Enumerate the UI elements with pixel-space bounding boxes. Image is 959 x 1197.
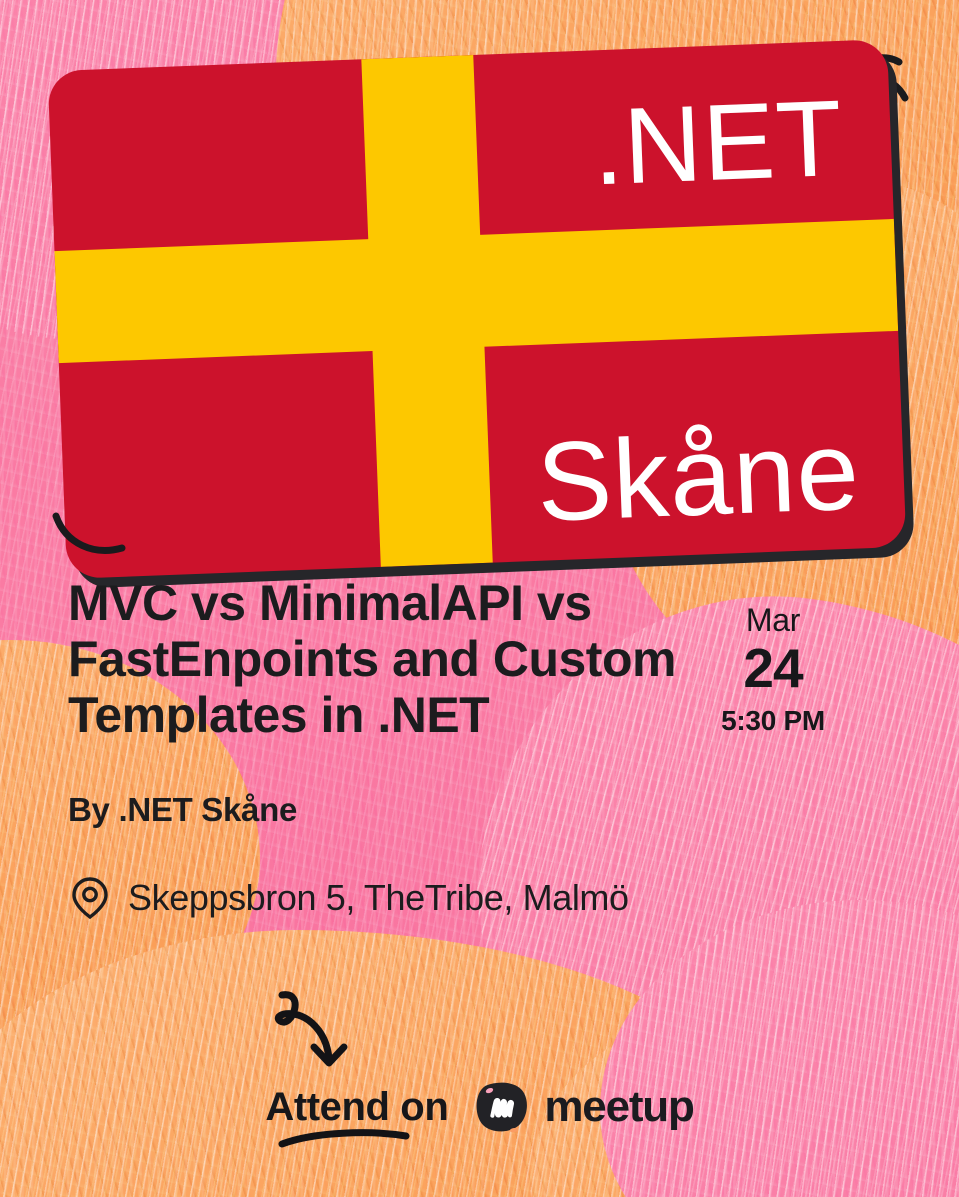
event-title: MVC vs MinimalAPI vs FastEnpoints and Cu…: [68, 575, 698, 743]
venue-text: Skeppsbron 5, TheTribe, Malmö: [128, 877, 629, 919]
map-pin-icon: [70, 875, 110, 921]
date-time: 5:30 PM: [698, 704, 848, 738]
flag-card-face: .NET Skåne: [48, 39, 907, 579]
date-day: 24: [698, 638, 848, 700]
meetup-logo-icon: [474, 1078, 532, 1136]
attend-label: Attend on: [265, 1085, 448, 1130]
meetup-logo[interactable]: meetup: [474, 1078, 693, 1136]
dotnet-skane-flag-card: .NET Skåne: [48, 39, 907, 579]
event-organizer: By .NET Skåne: [68, 791, 959, 829]
title-and-date-row: MVC vs MinimalAPI vs FastEnpoints and Cu…: [0, 575, 959, 743]
event-venue: Skeppsbron 5, TheTribe, Malmö: [70, 875, 959, 921]
date-month: Mar: [698, 603, 848, 638]
flag-cross-vertical: [361, 55, 492, 567]
card-brand-skane: Skåne: [535, 405, 862, 546]
card-brand-dotnet: .NET: [590, 75, 845, 210]
meetup-wordmark: meetup: [544, 1082, 693, 1132]
event-date-block: Mar 24 5:30 PM: [698, 575, 848, 737]
attend-cta[interactable]: Attend on meetup: [0, 1078, 959, 1136]
event-poster: .NET Skåne MVC vs MinimalAPI vs FastEnpo…: [0, 0, 959, 1197]
event-details: MVC vs MinimalAPI vs FastEnpoints and Cu…: [0, 575, 959, 921]
